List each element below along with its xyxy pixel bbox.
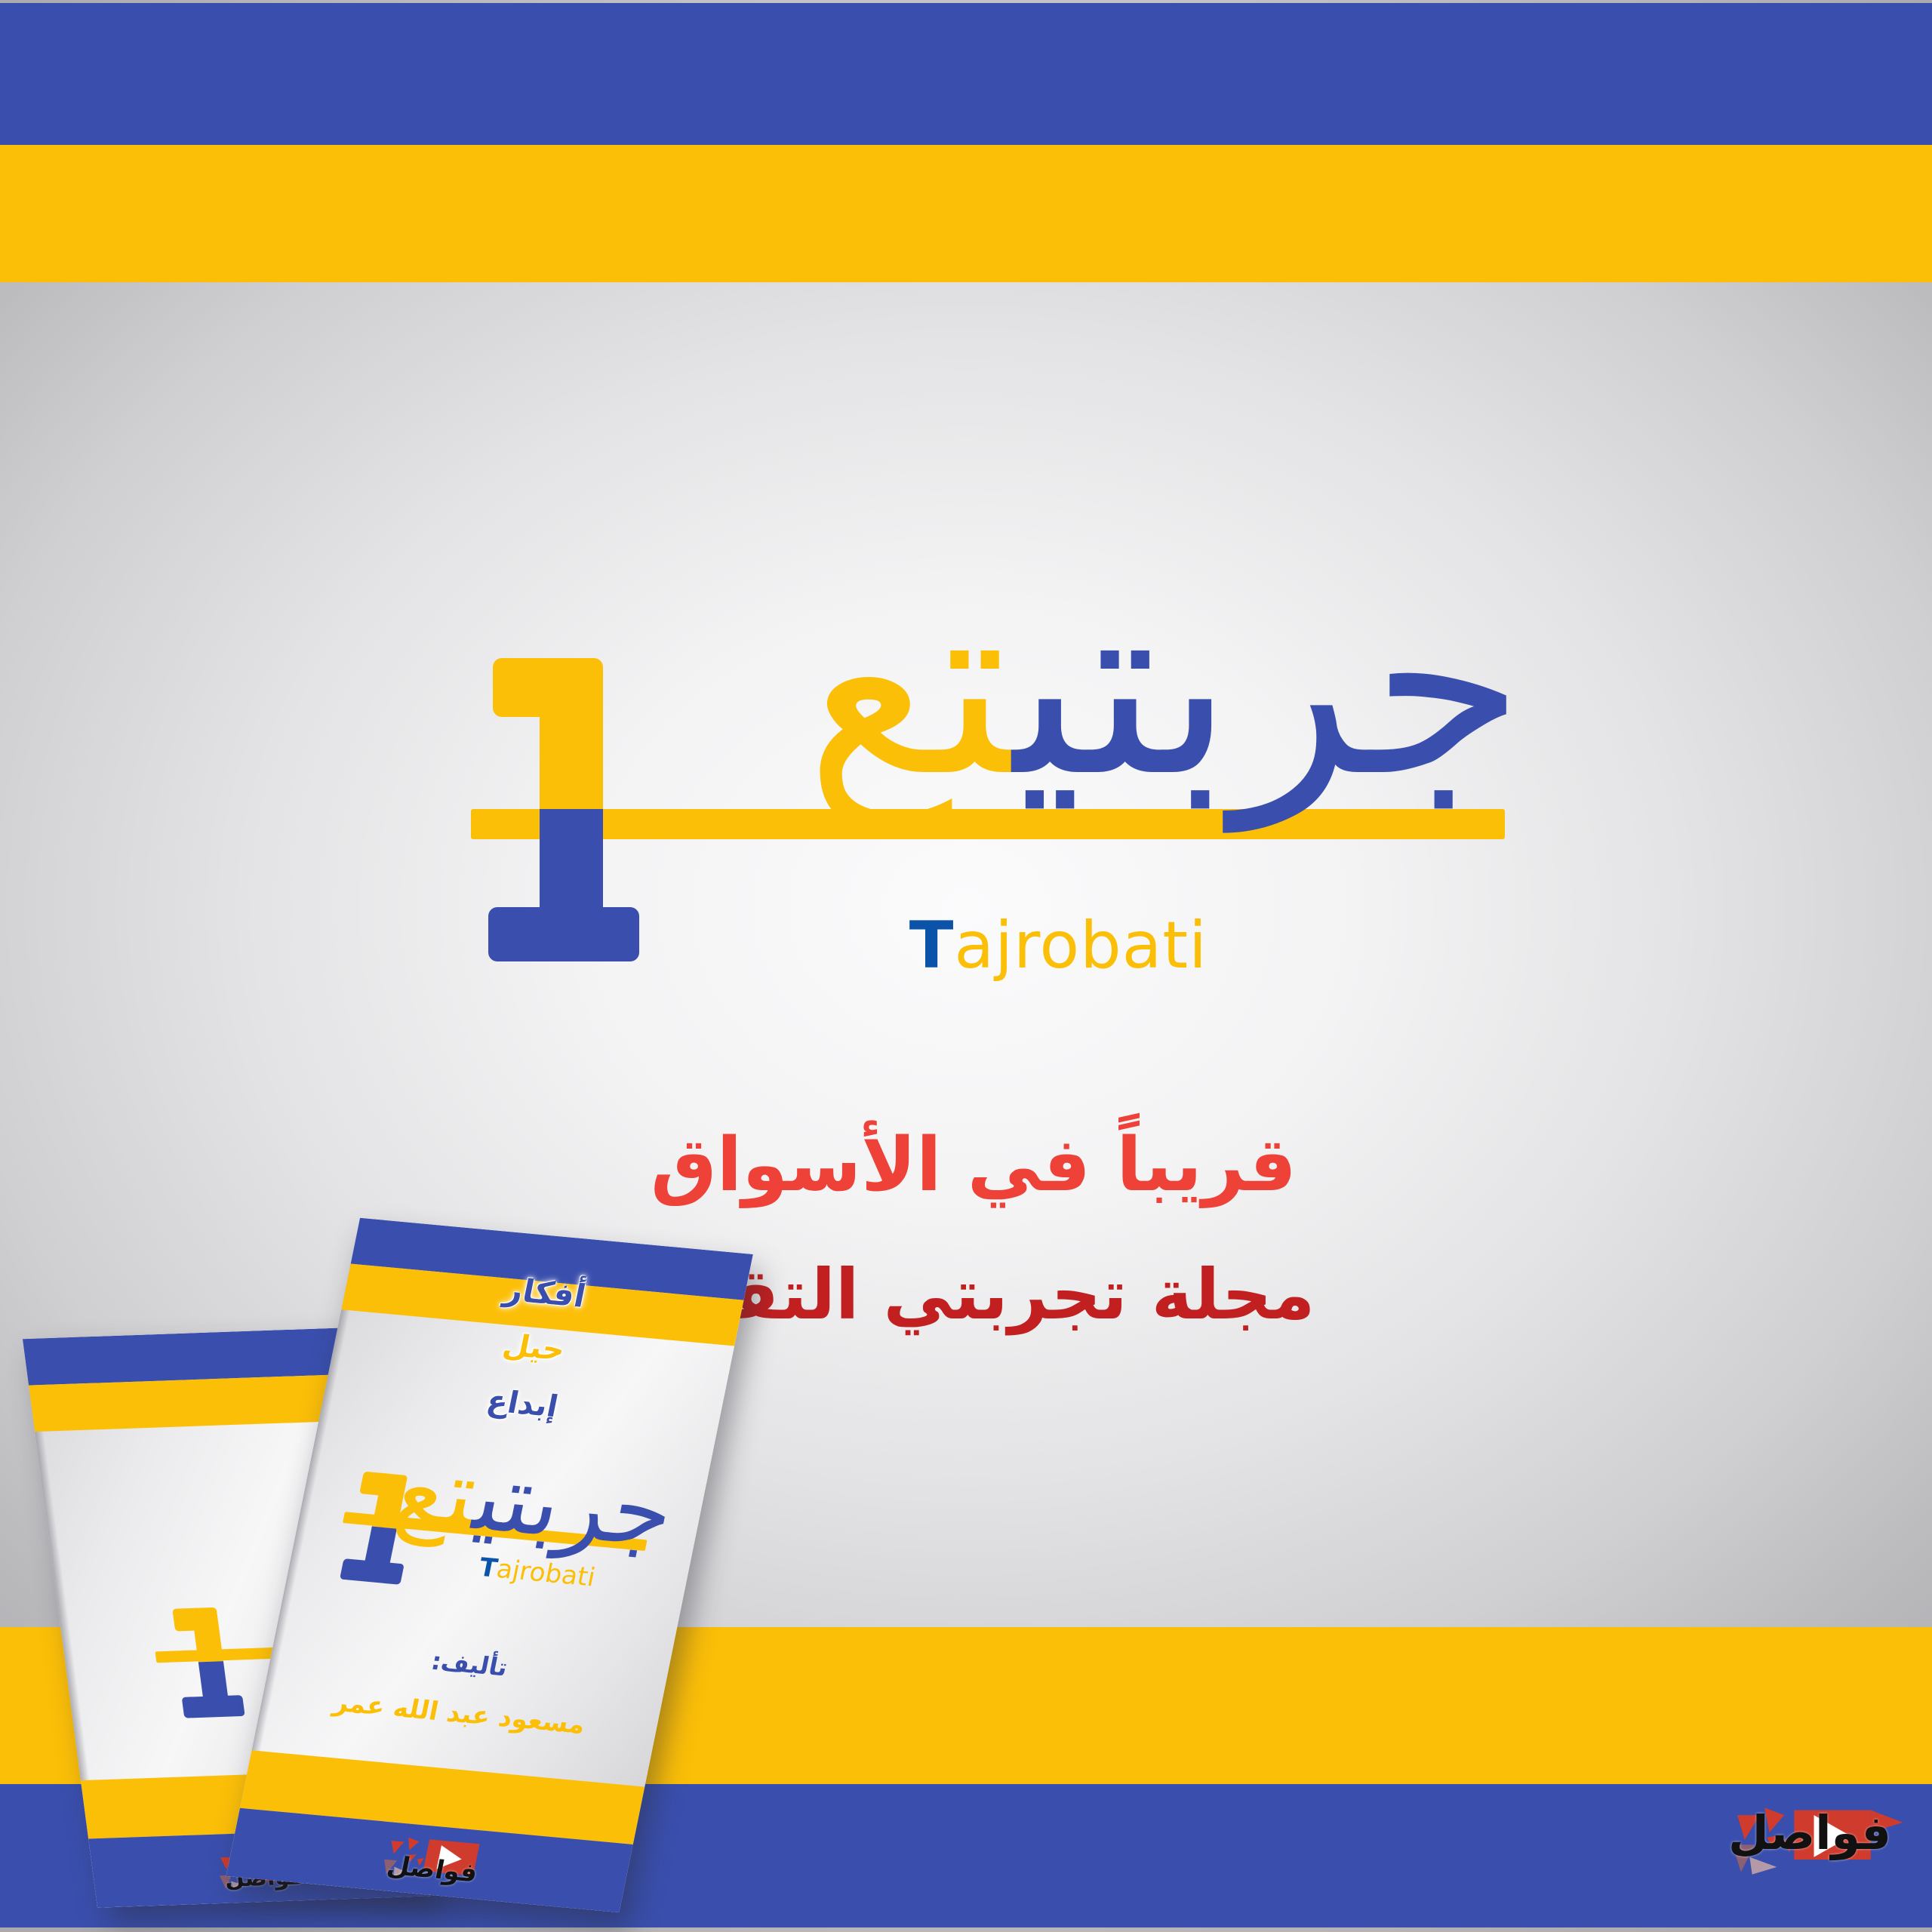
book-front-author-name: مسعود عبد الله عمر <box>260 1681 659 1747</box>
hero-numeral-one <box>493 658 644 952</box>
book-cover-front: أفكار حيل إبداع جربتيتع Tajrobati تأليف:… <box>226 1218 753 1912</box>
top-blue-band <box>0 3 1932 145</box>
book-back-numeral-one <box>172 1607 248 1720</box>
fawasel-logo-front: فواصل <box>375 1832 483 1889</box>
hero-latin-rest: ajrobati <box>954 908 1207 983</box>
hero-latin-initial: T <box>909 908 955 983</box>
book-front-title-arabic: جربتيتع <box>361 1440 682 1561</box>
poster-canvas: جربتيتع Tajrobati قريباً في الأسواق مجلة… <box>0 0 1932 1932</box>
book-front-one-foot <box>340 1558 405 1585</box>
top-yellow-band <box>0 145 1932 282</box>
book-back-one-foot <box>182 1695 245 1718</box>
hero-logo: جربتيتع Tajrobati <box>423 634 1524 1011</box>
book-keyword-creativity: إبداع <box>322 1369 722 1439</box>
book-front-title-blue-glyphs: جربتي <box>466 1441 684 1568</box>
fawasel-wordmark-corner: فواصل <box>1728 1805 1891 1860</box>
hero-title-blue-glyphs: جربتي <box>1014 541 1524 831</box>
numeral-one-upper-stem <box>540 658 603 809</box>
book-front-mini-logo: جربتيتع Tajrobati <box>286 1440 708 1617</box>
hero-title-latin: Tajrobati <box>909 913 1207 978</box>
numeral-one-foot <box>488 907 639 961</box>
hero-title-arabic: جربتيتع <box>687 561 1524 811</box>
fawasel-logo-corner: فواصل <box>1728 1805 1891 1860</box>
hero-title-yellow-glyphs: تع <box>806 541 1014 831</box>
book-back-one-upper-stem <box>191 1607 223 1663</box>
corner-publisher-logo: فواصل <box>1728 1805 1902 1918</box>
book-mockup-group: عمر فواصل <box>91 1177 906 1932</box>
